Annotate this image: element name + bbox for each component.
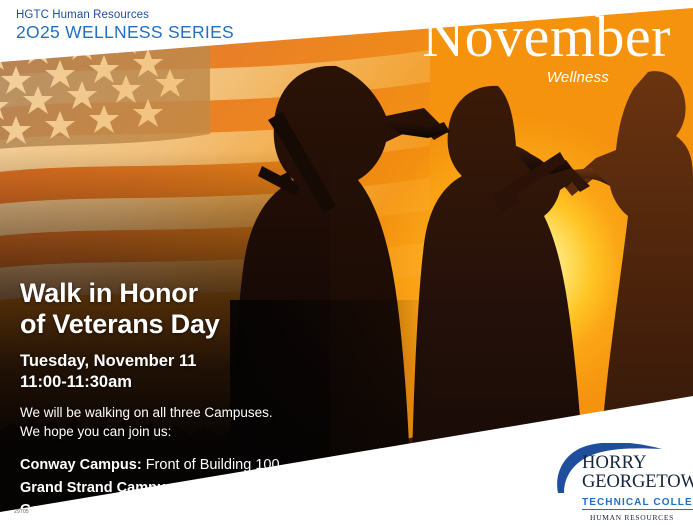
campus-location: Front of Building 200 xyxy=(183,480,317,496)
campus-name: Grand Strand Campus: xyxy=(20,480,179,496)
campus-list: Conway Campus: Front of Building 100 Gra… xyxy=(20,454,320,521)
wellness-flyer: HGTC Human Resources 2O25 WELLNESS SERIE… xyxy=(0,0,693,526)
campus-name: Georgetown Campus: xyxy=(20,502,171,518)
organization-label: HGTC Human Resources xyxy=(16,9,234,22)
campus-name: Conway Campus: xyxy=(20,457,142,473)
list-item: Conway Campus: Front of Building 100 xyxy=(20,454,320,476)
month-block: November Wellness xyxy=(422,8,671,86)
campus-location: Front of Building 100 xyxy=(146,457,280,473)
series-title: 2O25 WELLNESS SERIES xyxy=(16,23,234,43)
logo-line-human-resources: HUMAN RESOURCES xyxy=(582,513,682,522)
list-item: Georgetown Campus: Front of Building 100 xyxy=(20,499,320,521)
event-when: Tuesday, November 11 11:00-11:30am xyxy=(20,351,320,393)
logo-line-georgetown: GEORGETOWN xyxy=(582,474,684,492)
list-item: Grand Strand Campus: Front of Building 2… xyxy=(20,477,320,499)
logo-wordmark: HORRY GEORGETOWN TECHNICAL COLLEGE HUMAN… xyxy=(582,455,684,522)
event-details: Walk in Honor of Veterans Day Tuesday, N… xyxy=(20,278,320,522)
event-time: 11:00-11:30am xyxy=(20,372,320,393)
event-blurb-line1: We will be walking on all three Campuses… xyxy=(20,404,320,423)
month-kicker: Wellness xyxy=(422,69,609,86)
hgtc-logo: HORRY GEORGETOWN TECHNICAL COLLEGE HUMAN… xyxy=(552,443,684,517)
logo-line-technical-college: TECHNICAL COLLEGE xyxy=(582,497,693,511)
campus-location: Front of Building 100 xyxy=(175,502,309,518)
month-name: November xyxy=(422,8,671,66)
event-title-line1: Walk in Honor xyxy=(20,278,320,309)
event-title-line2: of Veterans Day xyxy=(20,309,320,340)
event-date: Tuesday, November 11 xyxy=(20,351,320,372)
event-title: Walk in Honor of Veterans Day xyxy=(20,278,320,339)
event-blurb-line2: We hope you can join us: xyxy=(20,423,320,442)
event-blurb: We will be walking on all three Campuses… xyxy=(20,404,320,441)
flyer-header: HGTC Human Resources 2O25 WELLNESS SERIE… xyxy=(16,9,234,42)
logo-line-horry: HORRY xyxy=(582,455,684,473)
document-code: 29705 xyxy=(14,509,29,515)
